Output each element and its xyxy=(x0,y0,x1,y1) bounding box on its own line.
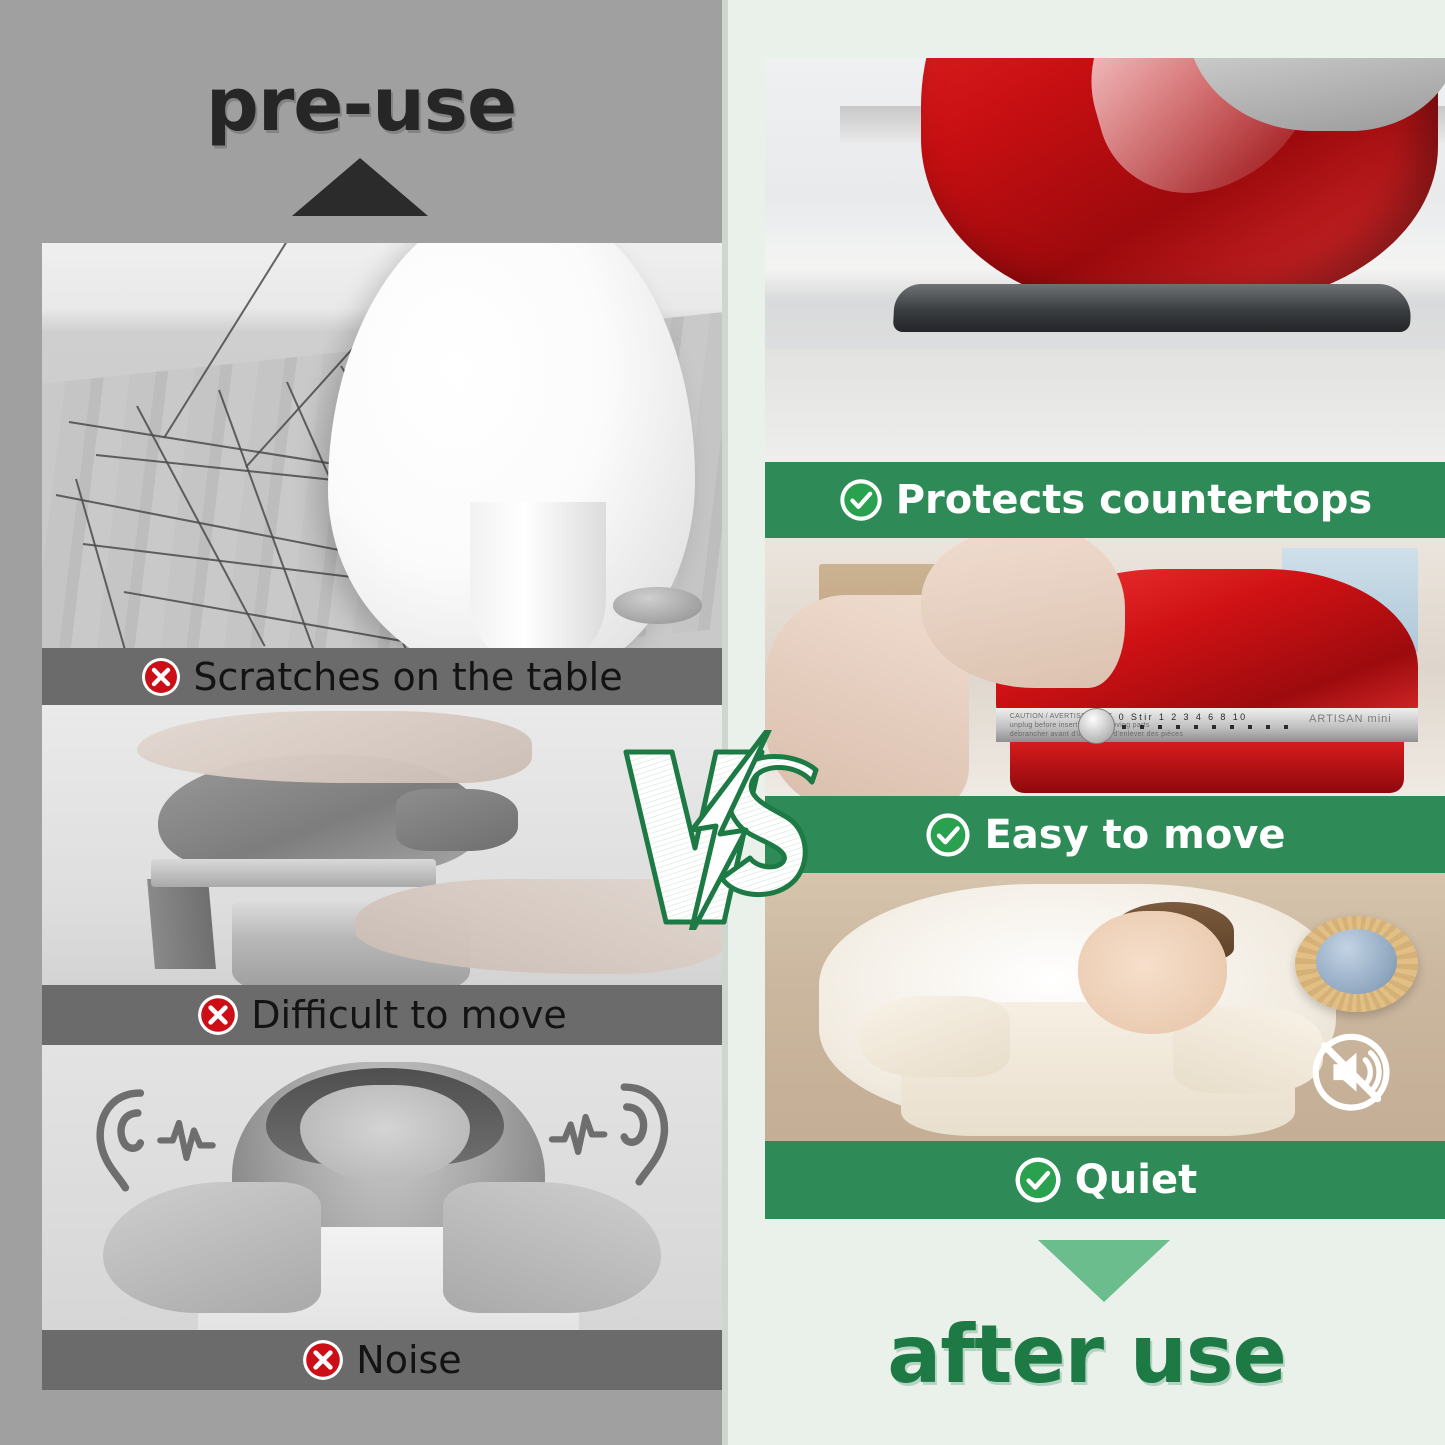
red-circle-x-icon xyxy=(197,994,239,1036)
label-text: Quiet xyxy=(1075,1157,1197,1203)
green-circle-check-icon xyxy=(1013,1155,1063,1205)
label-quiet: Quiet xyxy=(765,1141,1445,1219)
label-difficult-to-move: Difficult to move xyxy=(42,985,722,1045)
label-text: Noise xyxy=(356,1338,461,1382)
silicone-pad xyxy=(1316,929,1398,993)
no-sound-icon xyxy=(1295,1028,1407,1116)
photo-easy-to-move: CAUTION / AVERTISSEMENT unplug before in… xyxy=(765,538,1445,796)
photo-quiet-sleeping-baby xyxy=(765,873,1445,1141)
triangle-down-icon xyxy=(1038,1240,1170,1302)
photo-protects-countertops xyxy=(765,58,1445,462)
label-text: Protects countertops xyxy=(896,477,1373,523)
comparison-infographic: pre-use xyxy=(0,0,1445,1445)
green-circle-check-icon xyxy=(924,811,972,859)
label-text: Scratches on the table xyxy=(193,655,622,699)
label-text: Difficult to move xyxy=(251,993,566,1037)
photo-noise xyxy=(42,1045,722,1330)
page-title-pre-use: pre-use xyxy=(0,62,722,148)
red-circle-x-icon xyxy=(141,657,181,697)
mixer-brand-label: ARTISAN mini xyxy=(1309,713,1392,725)
pre-use-panel: pre-use xyxy=(0,0,722,1445)
triangle-up-icon xyxy=(292,158,428,216)
page-title-after-use: after use xyxy=(728,1308,1445,1401)
ear-with-soundwave-icon xyxy=(532,1068,682,1193)
ear-with-soundwave-icon xyxy=(83,1074,233,1199)
mixer-speed-scale: 0 Stir 1 2 3 4 6 8 10 xyxy=(1119,712,1248,722)
label-text: Easy to move xyxy=(984,812,1285,858)
label-protects-countertops: Protects countertops xyxy=(765,462,1445,538)
label-scratches-on-table: Scratches on the table xyxy=(42,648,722,705)
red-circle-x-icon xyxy=(302,1339,344,1381)
green-circle-check-icon xyxy=(838,477,884,523)
mixer-speed-dots xyxy=(1122,725,1299,729)
photo-scratches-on-table xyxy=(42,243,722,648)
label-easy-to-move: Easy to move xyxy=(765,796,1445,873)
label-noise: Noise xyxy=(42,1330,722,1390)
vs-badge: VS xyxy=(612,730,832,930)
